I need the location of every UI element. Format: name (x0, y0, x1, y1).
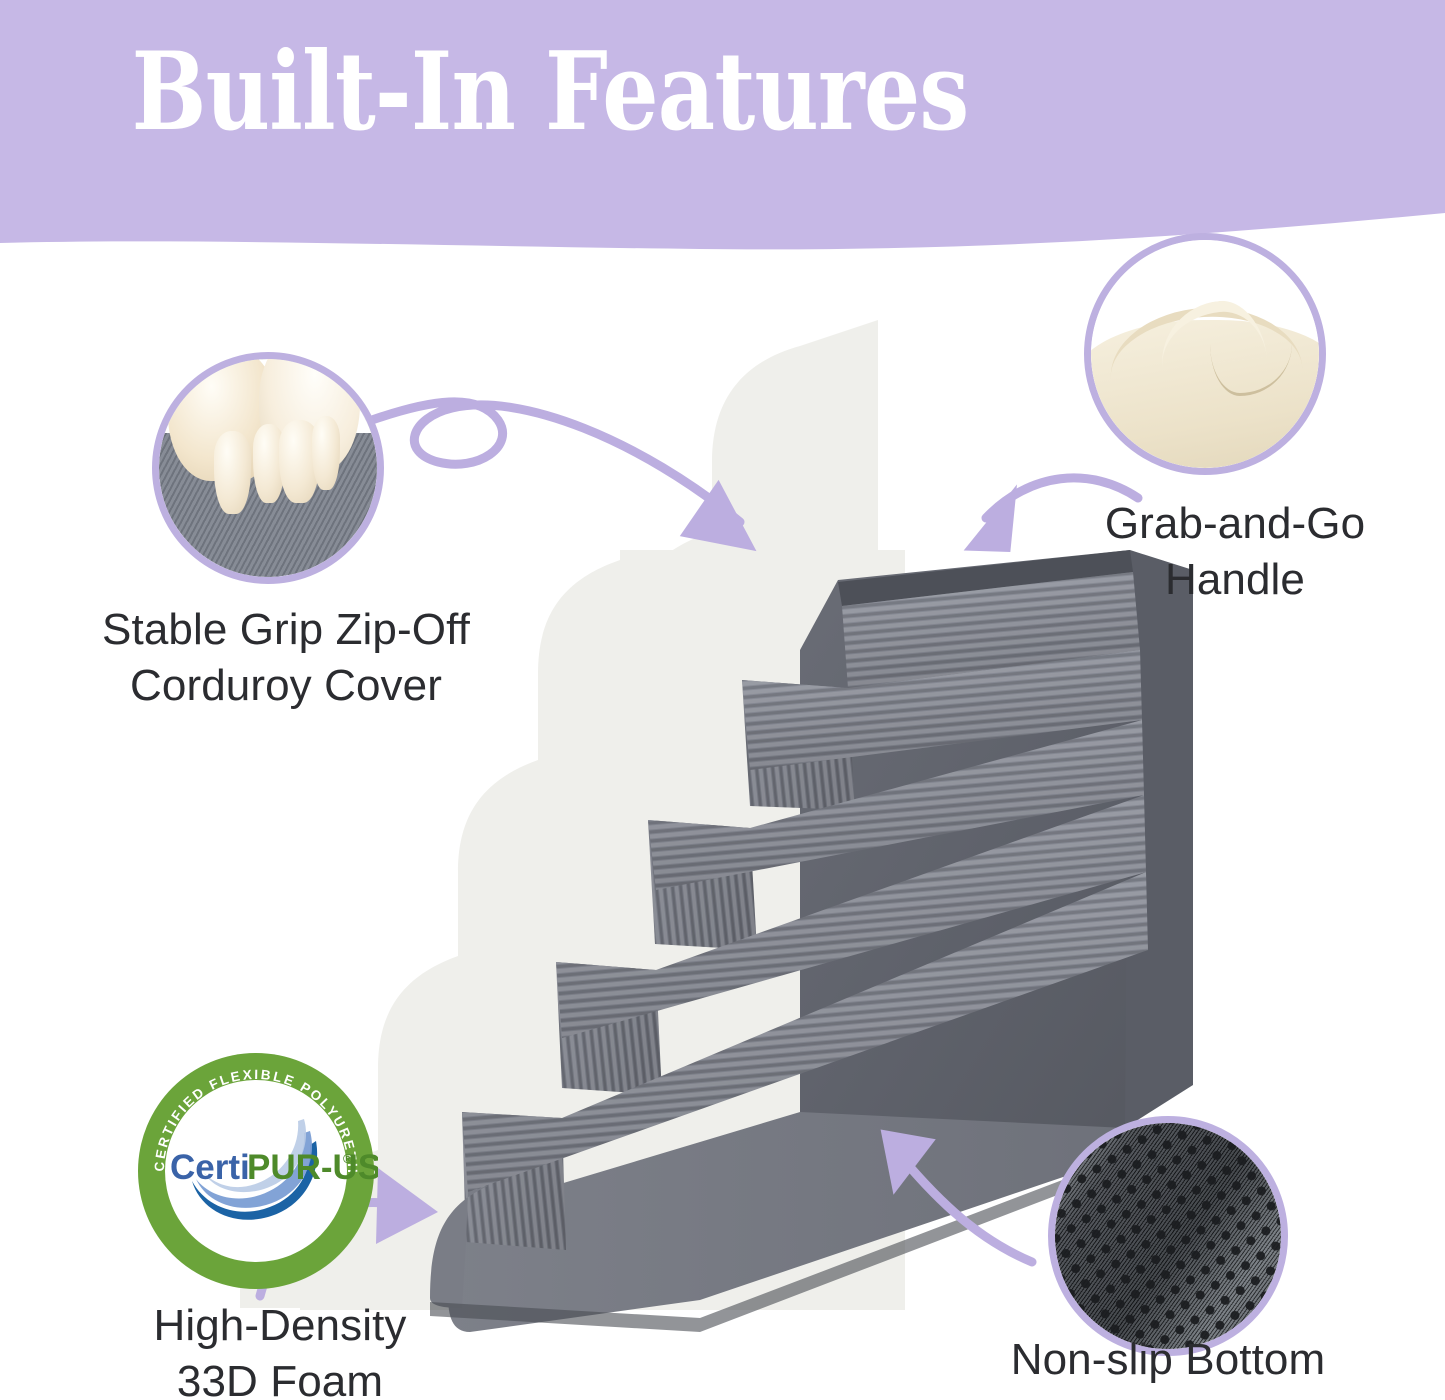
arrow-corduroy (372, 402, 740, 522)
corduroy-photo (159, 359, 377, 577)
certipur-us-badge[interactable]: CONTAINS CERTIFIED FLEXIBLE POLYURETHANE… (134, 1049, 378, 1293)
arrow-handle-head (956, 484, 1027, 558)
callout-circle-handle[interactable] (1084, 233, 1326, 475)
feature-label-nonslip-line1: Non-slip Bottom (948, 1332, 1388, 1388)
nonslip-photo (1055, 1123, 1281, 1349)
badge-registered-mark: ® (343, 1151, 353, 1166)
feature-label-nonslip: Non-slip Bottom (948, 1332, 1388, 1388)
feature-label-corduroy-line1: Stable Grip Zip-Off (36, 602, 536, 658)
infographic-page: Built-In Features (0, 0, 1445, 1400)
callout-circle-nonslip[interactable] (1048, 1116, 1288, 1356)
feature-label-foam-line2: 33D Foam (70, 1354, 490, 1400)
feature-label-corduroy-line2: Corduroy Cover (36, 658, 536, 714)
feature-label-foam-line1: High-Density (70, 1298, 490, 1354)
header-banner: Built-In Features (0, 0, 1445, 270)
page-title: Built-In Features (99, 36, 1001, 149)
callout-circle-corduroy[interactable] (152, 352, 384, 584)
nonslip-rubber-dots (1055, 1123, 1281, 1349)
dog-leg-back-right (312, 416, 340, 490)
badge-wordmark-certi: Certi (170, 1148, 250, 1187)
feature-label-handle-line1: Grab-and-Go (1040, 496, 1430, 552)
feature-label-foam: High-Density 33D Foam (70, 1298, 490, 1400)
badge-wordmark-purus: PUR-US (247, 1148, 378, 1187)
feature-label-handle: Grab-and-Go Handle (1040, 496, 1430, 609)
feature-label-corduroy: Stable Grip Zip-Off Corduroy Cover (36, 602, 536, 715)
feature-label-handle-line2: Handle (1040, 552, 1430, 608)
handle-photo (1091, 240, 1319, 468)
dog-leg-front-left (214, 431, 251, 514)
